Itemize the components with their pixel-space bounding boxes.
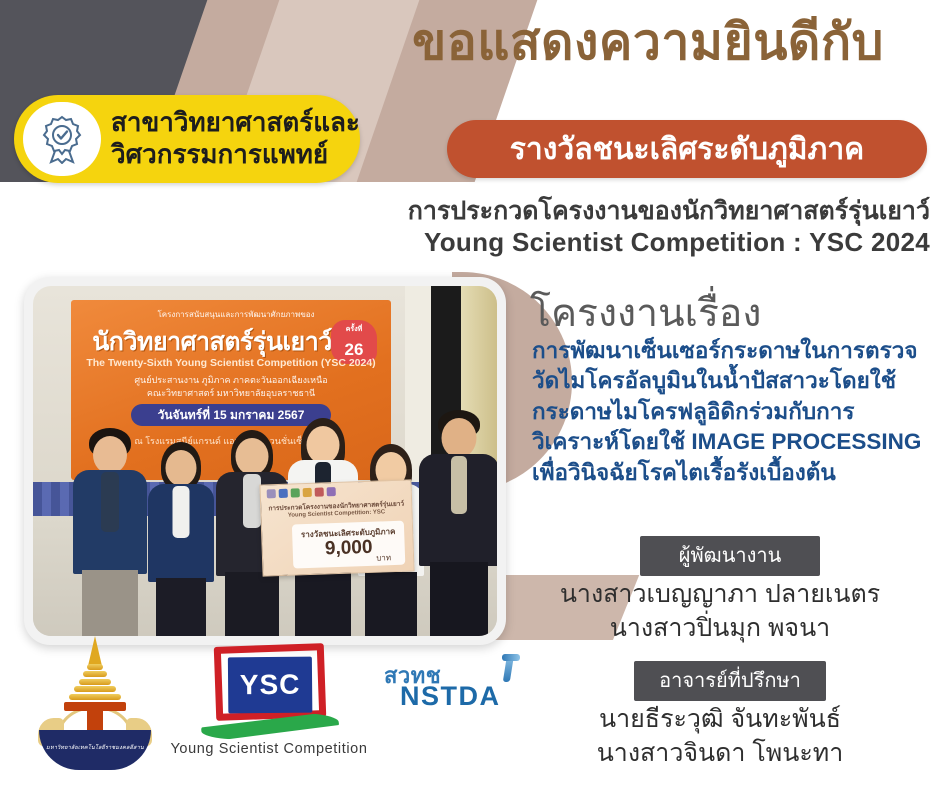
award-medal-check-icon [23, 102, 101, 176]
advisor-name-1: นายธีระวุฒิ จันทะพันธ์ [510, 703, 930, 737]
nstda-mark-icon [494, 654, 520, 684]
photo-person-6 [417, 410, 497, 636]
branch-badge-label: สาขาวิทยาศาสตร์และ วิศวกรรมการแพทย์ [101, 107, 360, 170]
main-heading: ขอแสดงความยินดีกับ [370, 14, 926, 72]
advisor-names: นายธีระวุฒิ จันทะพันธ์ นางสาวจินดา โพนะท… [510, 703, 930, 771]
ysc-frame-icon: YSC [214, 643, 327, 721]
project-label: โครงงานเรื่อง [530, 282, 930, 344]
nstda-logo: สวทช NSTDA [378, 654, 538, 724]
university-emblem-logo: มหาวิทยาลัยเทคโนโลยีราชมงคลอีสาน [36, 636, 154, 770]
ysc-logo: YSC Young Scientist Competition [195, 645, 345, 765]
prize-cheque: การประกวดโครงงานของนักวิทยาศาสตร์รุ่นเยา… [259, 479, 414, 576]
award-banner: รางวัลชนะเลิศระดับภูมิภาค [447, 120, 927, 178]
competition-subtitle: การประกวดโครงงานของนักวิทยาศาสตร์รุ่นเยา… [360, 196, 930, 258]
congratulations-poster: ขอแสดงความยินดีกับ สาขาวิทยาศาสตร์และ วิ… [0, 0, 940, 788]
branch-badge-line-1: สาขาวิทยาศาสตร์และ [111, 107, 360, 137]
cheque-sponsor-logos [267, 484, 405, 500]
emblem-ribbon-text: มหาวิทยาลัยเทคโนโลยีราชมงคลอีสาน [39, 744, 151, 752]
competition-english: Young Scientist Competition : YSC 2024 [360, 227, 930, 258]
award-photo: โครงการสนับสนุนและการพัฒนาศักยภาพของ นัก… [33, 286, 497, 636]
nstda-english-text: NSTDA [400, 681, 501, 712]
award-photo-card: โครงการสนับสนุนและการพัฒนาศักยภาพของ นัก… [24, 277, 506, 645]
stage-banner-edition-label: ครั้งที่ [331, 324, 377, 335]
photo-person-1 [71, 422, 149, 636]
branch-badge: สาขาวิทยาศาสตร์และ วิศวกรรมการแพทย์ [14, 95, 360, 183]
competition-thai: การประกวดโครงงานของนักวิทยาศาสตร์รุ่นเยา… [360, 196, 930, 227]
stage-banner-subtitle-top: โครงการสนับสนุนและการพัฒนาศักยภาพของ [95, 308, 377, 321]
ysc-mark-text: YSC [228, 657, 312, 714]
cheque-currency-unit: บาท [376, 551, 391, 565]
stage-banner-english: The Twenty-Sixth Young Scientist Competi… [79, 357, 383, 369]
cheque-amount-panel: รางวัลชนะเลิศระดับภูมิภาค 9,000 บาท [292, 521, 405, 569]
branch-badge-line-2: วิศวกรรมการแพทย์ [111, 139, 328, 169]
photo-person-2 [145, 428, 217, 636]
developer-name-1: นางสาวเบญญาภา ปลายเนตร [510, 578, 930, 612]
developer-names: นางสาวเบญญาภา ปลายเนตร นางสาวปิ่นมุก พจน… [510, 578, 930, 646]
developers-chip: ผู้พัฒนางาน [640, 536, 820, 576]
project-title: การพัฒนาเซ็นเซอร์กระดาษในการตรวจวัดไมโคร… [532, 336, 932, 488]
stage-banner-title: นักวิทยาศาสตร์รุ่นเยาว์ [81, 322, 343, 362]
developer-name-2: นางสาวปิ่นมุก พจนา [510, 612, 930, 646]
ysc-caption: Young Scientist Competition [149, 741, 389, 757]
emblem-ribbon: มหาวิทยาลัยเทคโนโลยีราชมงคลอีสาน [39, 730, 151, 770]
advisor-name-2: นางสาวจินดา โพนะทา [510, 737, 930, 771]
advisors-chip: อาจารย์ที่ปรึกษา [634, 661, 826, 701]
